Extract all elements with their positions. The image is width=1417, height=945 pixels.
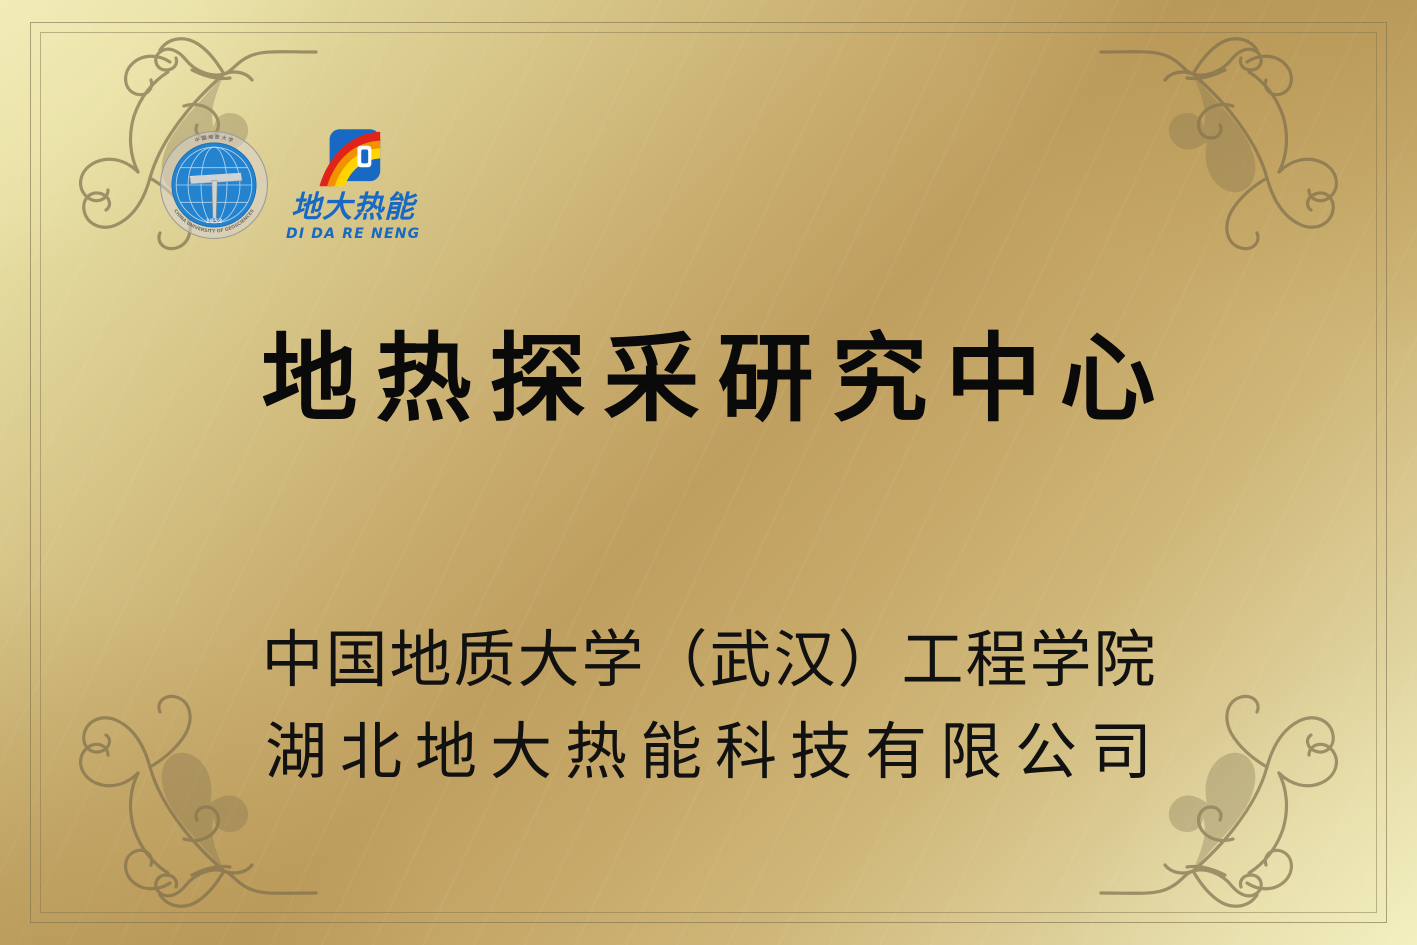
page-title: 地热探采研究中心	[0, 326, 1417, 434]
logo-row: 1952 中 国 地 质 大 学 CHINA UNIVERSITY OF GEO…	[160, 128, 420, 241]
subtitle-line-company: 湖北地大热能科技有限公司	[0, 706, 1417, 798]
corner-filigree-icon-top-right	[1099, 10, 1399, 260]
subtitle-line-university: 中国地质大学（武汉）工程学院	[0, 614, 1417, 706]
didareneng-logo: 地大热能 DI DA RE NENG	[286, 128, 420, 241]
award-plaque: 1952 中 国 地 质 大 学 CHINA UNIVERSITY OF GEO…	[0, 0, 1417, 945]
china-university-of-geosciences-emblem-icon: 1952 中 国 地 质 大 学 CHINA UNIVERSITY OF GEO…	[160, 131, 268, 239]
didareneng-mark-icon	[318, 128, 388, 190]
didareneng-chinese-text: 地大热能	[291, 193, 415, 223]
subtitle-block: 中国地质大学（武汉）工程学院 湖北地大热能科技有限公司	[0, 614, 1417, 798]
didareneng-pinyin-text: DI DA RE NENG	[286, 227, 420, 241]
svg-text:1952: 1952	[206, 217, 223, 224]
